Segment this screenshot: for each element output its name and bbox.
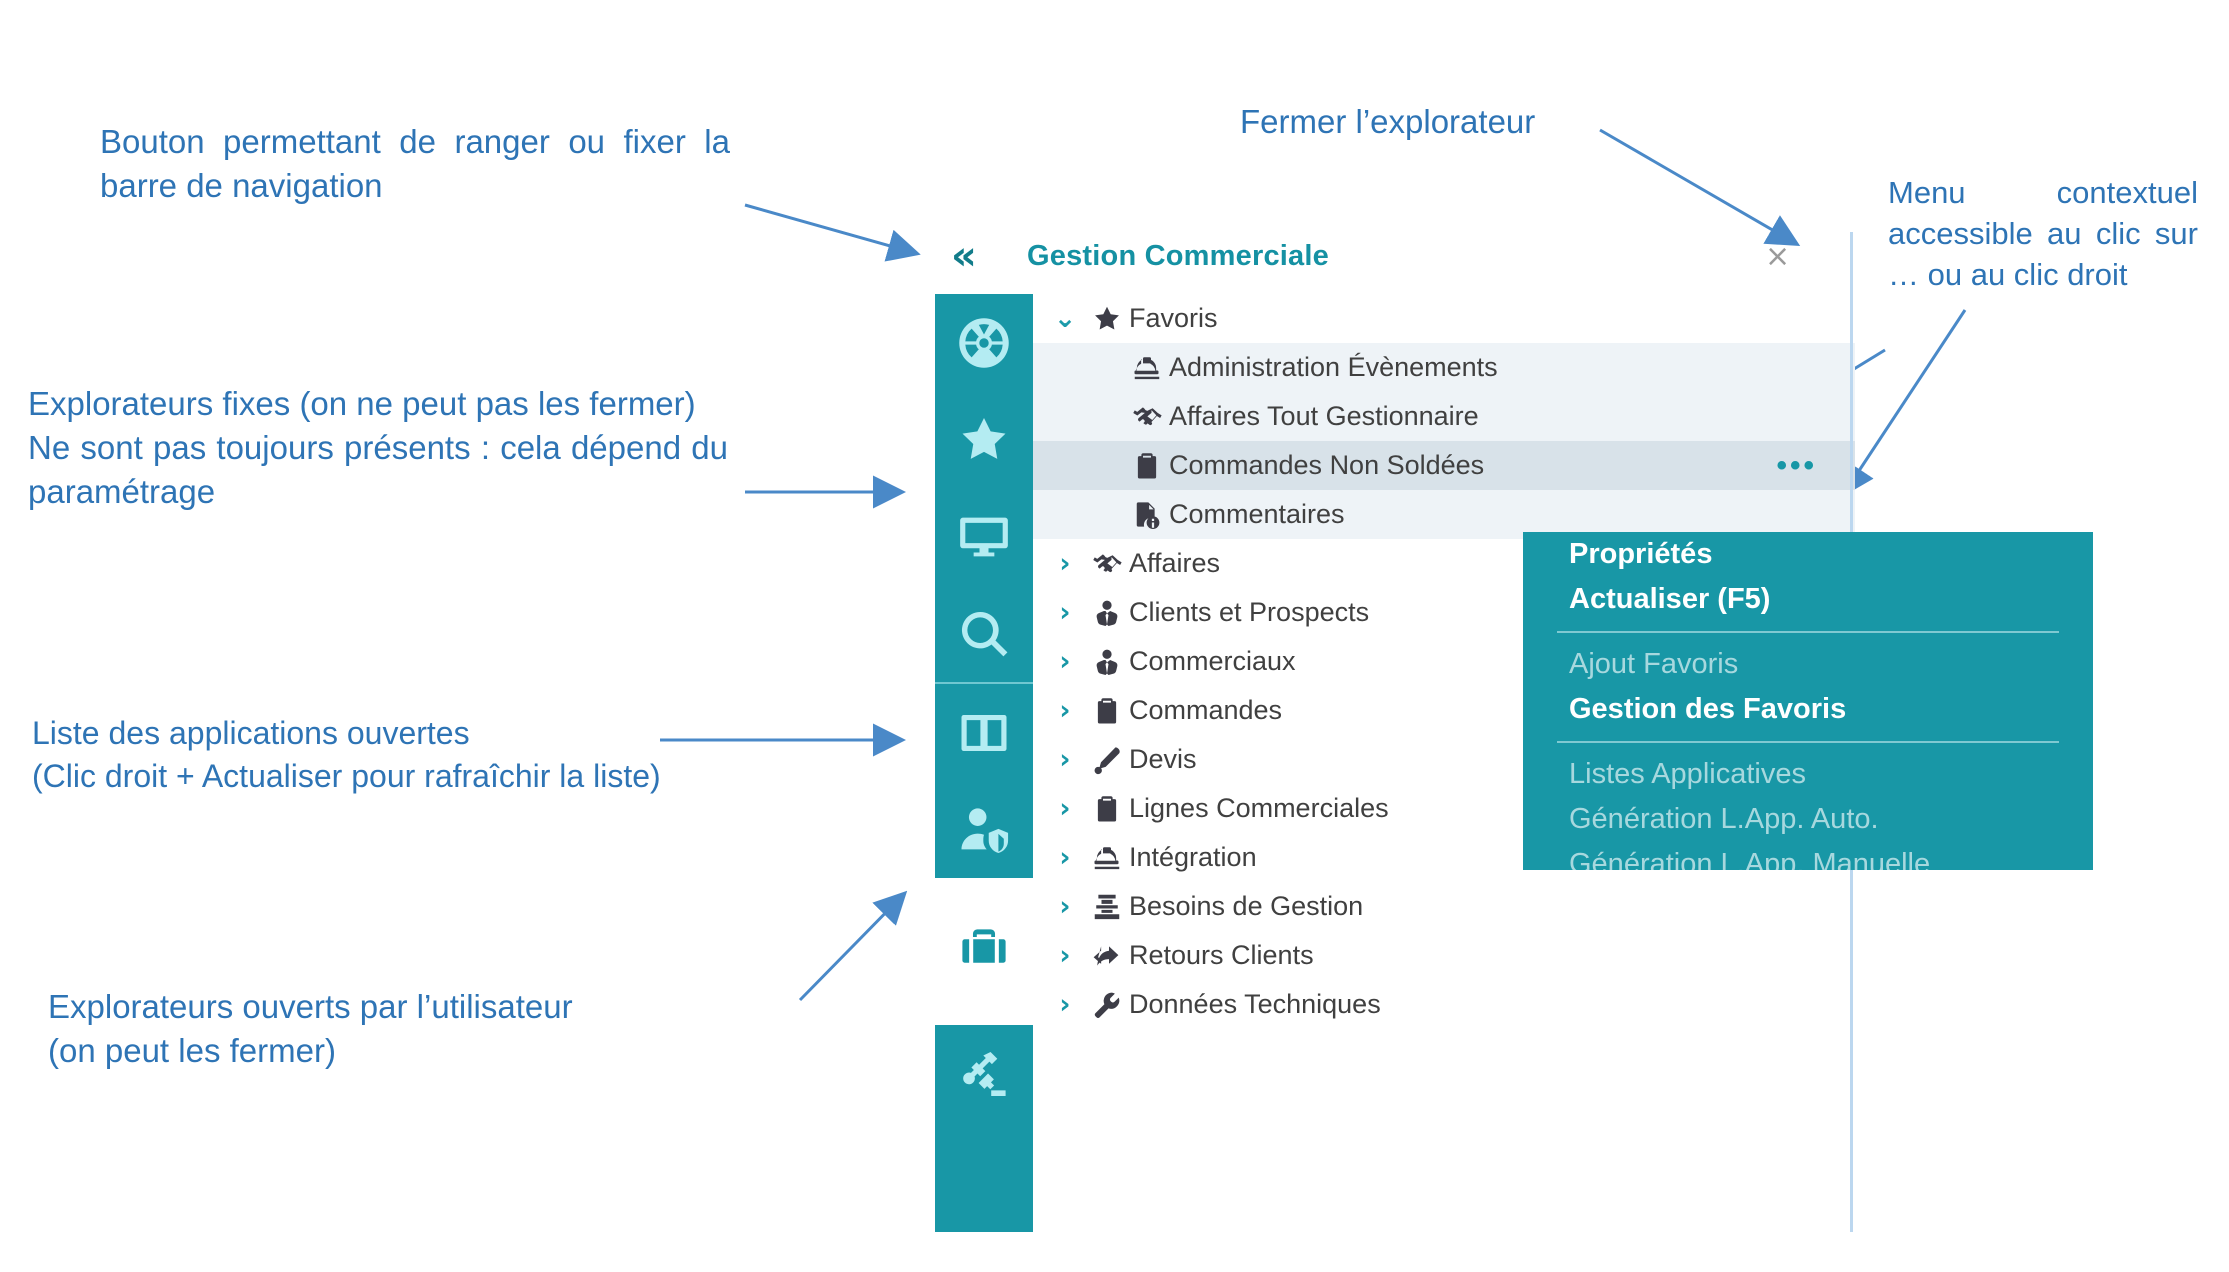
chevron-right-icon[interactable]: › <box>1045 548 1085 579</box>
clipboard-icon <box>1125 451 1169 481</box>
close-icon[interactable]: × <box>1765 242 1790 272</box>
page-title: Gestion Commerciale <box>1027 240 1329 273</box>
tree-row-label: Besoins de Gestion <box>1129 891 1363 922</box>
context-menu-item[interactable]: Génération L.App. Auto. <box>1523 797 2093 842</box>
tree-row[interactable]: ›Besoins de Gestion <box>1033 882 1855 931</box>
monitor-icon <box>957 510 1011 564</box>
user-tie-icon <box>1085 647 1129 677</box>
tree-row[interactable]: Commandes Non Soldées••• <box>1033 441 1855 490</box>
tree-row-label: Commerciaux <box>1129 646 1296 677</box>
chevron-right-icon[interactable]: › <box>1045 989 1085 1020</box>
context-menu-item[interactable]: Génération L.App. Manuelle <box>1523 842 2093 870</box>
handshake-icon <box>1125 402 1169 432</box>
chevron-right-icon[interactable]: › <box>1045 793 1085 824</box>
chevron-right-icon[interactable]: › <box>1045 891 1085 922</box>
press-icon <box>1085 892 1129 922</box>
annotation-user-explorers: Explorateurs ouverts par l’utilisateur (… <box>48 985 748 1073</box>
clipboard-icon <box>1085 794 1129 824</box>
tree-row-label: Administration Évènements <box>1169 352 1498 383</box>
context-menu-item[interactable]: Ajout Favoris <box>1523 642 2093 687</box>
icon-rail <box>935 294 1033 1232</box>
chevron-right-icon[interactable]: › <box>1045 744 1085 775</box>
annotation-context-menu: Menu contextuel accessible au clic sur …… <box>1888 172 2198 296</box>
rail-item-favoris[interactable] <box>935 391 1033 488</box>
tree-row[interactable]: Administration Évènements <box>1033 343 1855 392</box>
context-menu-item[interactable]: Propriétés <box>1523 532 2093 577</box>
pen-icon <box>1085 745 1129 775</box>
tree-row[interactable]: ⌄Favoris <box>1033 294 1855 343</box>
user-tie-icon <box>1085 598 1129 628</box>
tree-row-label: Intégration <box>1129 842 1257 873</box>
rail-group-2 <box>935 902 1033 999</box>
rail-item-recherche[interactable] <box>935 585 1033 682</box>
star-icon <box>1085 304 1129 334</box>
rail-item-ecrans[interactable] <box>935 488 1033 585</box>
annotation-fixed-explorers: Explorateurs fixes (on ne peut pas les f… <box>28 382 728 514</box>
tree-row-label: Lignes Commerciales <box>1129 793 1389 824</box>
tree-row-label: Commandes Non Soldées <box>1169 450 1484 481</box>
chevron-right-icon[interactable]: › <box>1045 842 1085 873</box>
rail-item-production[interactable] <box>935 1025 1033 1122</box>
wrench-icon <box>1085 990 1129 1020</box>
user-shield-icon <box>957 803 1011 857</box>
tree-row-label: Devis <box>1129 744 1197 775</box>
rail-item-securite[interactable] <box>935 781 1033 878</box>
context-menu-item[interactable]: Gestion des Favoris <box>1523 687 2093 732</box>
handshake-icon <box>1085 549 1129 579</box>
chevron-right-icon[interactable]: › <box>1045 695 1085 726</box>
chevron-right-icon[interactable]: › <box>1045 646 1085 677</box>
annotation-open-applications: Liste des applications ouvertes (Clic dr… <box>32 712 822 797</box>
rail-item-applications[interactable] <box>935 684 1033 781</box>
hardhat-icon <box>1085 843 1129 873</box>
robot-arm-icon <box>957 1047 1011 1101</box>
rail-group-1 <box>935 682 1033 878</box>
tree-row-label: Retours Clients <box>1129 940 1314 971</box>
rail-item-accueil[interactable] <box>935 294 1033 391</box>
chevron-right-icon[interactable]: › <box>1045 597 1085 628</box>
annotation-nav-button: Bouton permettant de ranger ou fixer la … <box>100 120 730 208</box>
tree-row-label: Commentaires <box>1169 499 1345 530</box>
context-menu-separator <box>1557 631 2059 633</box>
tree-row[interactable]: Affaires Tout Gestionnaire <box>1033 392 1855 441</box>
panels-icon <box>957 706 1011 760</box>
tree-row-label: Affaires <box>1129 548 1220 579</box>
chevron-right-icon[interactable]: › <box>1045 940 1085 971</box>
collapse-nav-icon[interactable]: « <box>951 236 977 276</box>
tree-row[interactable]: ›Retours Clients <box>1033 931 1855 980</box>
rail-group-0 <box>935 294 1033 682</box>
reply-all-icon <box>1085 941 1129 971</box>
tree-row-label: Données Techniques <box>1129 989 1381 1020</box>
slide-canvas: Bouton permettant de ranger ou fixer la … <box>0 0 2229 1272</box>
annotation-close-explorer: Fermer l’explorateur <box>1240 100 1670 144</box>
briefcase-icon <box>957 924 1011 978</box>
star-icon <box>957 413 1011 467</box>
context-menu-item[interactable]: Actualiser (F5) <box>1523 577 2093 622</box>
tree-row-label: Affaires Tout Gestionnaire <box>1169 401 1479 432</box>
document-info-icon <box>1125 500 1169 530</box>
chevron-down-icon[interactable]: ⌄ <box>1045 303 1085 334</box>
tree-row-label: Clients et Prospects <box>1129 597 1369 628</box>
row-overflow-menu-icon[interactable]: ••• <box>1776 460 1817 472</box>
search-icon <box>957 607 1011 661</box>
tree-row[interactable]: ›Données Techniques <box>1033 980 1855 1029</box>
context-menu-separator <box>1557 741 2059 743</box>
hardhat-icon <box>1125 353 1169 383</box>
explorer-header: « Gestion Commerciale × <box>905 232 1855 294</box>
context-menu[interactable]: PropriétésActualiser (F5)Ajout FavorisGe… <box>1523 532 2093 870</box>
rail-item-affaires[interactable] <box>935 902 1033 999</box>
rail-group-3 <box>935 1025 1033 1232</box>
clipboard-icon <box>1085 696 1129 726</box>
ship-wheel-icon <box>957 316 1011 370</box>
tree-row-label: Favoris <box>1129 303 1218 334</box>
tree-row-label: Commandes <box>1129 695 1282 726</box>
context-menu-item[interactable]: Listes Applicatives <box>1523 752 2093 797</box>
